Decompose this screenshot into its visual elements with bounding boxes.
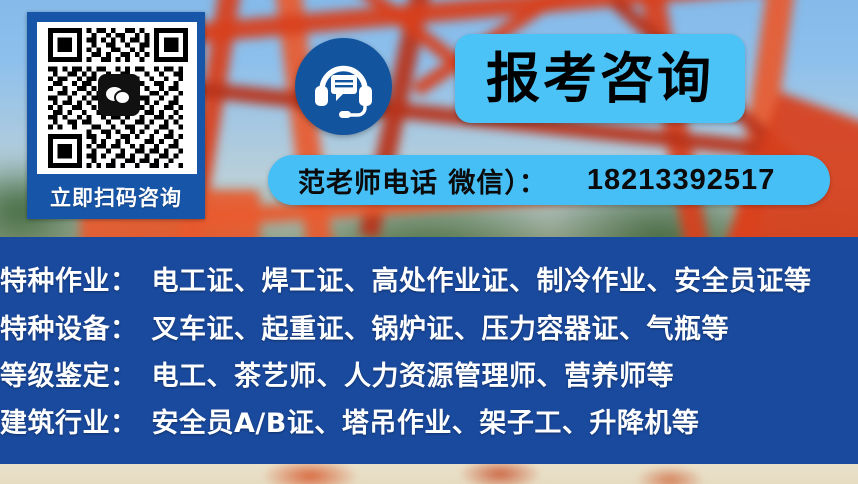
- category-row-construction: 建筑行业： 安全员A/B证、塔吊作业、架子工、升降机等: [0, 397, 858, 443]
- category-row-special-equipment: 特种设备： 叉车证、起重证、锅炉证、压力容器证、气瓶等: [0, 303, 858, 349]
- category-label: 等级鉴定：: [0, 354, 138, 393]
- category-row-special-operations: 特种作业： 电工证、焊工证、高处作业证、制冷作业、安全员证等: [0, 255, 858, 301]
- category-items: 电工证、焊工证、高处作业证、制冷作业、安全员证等: [152, 259, 812, 298]
- qr-card-caption: 立即扫码咨询: [30, 182, 202, 212]
- consultation-title-pill[interactable]: 报考咨询: [455, 34, 745, 123]
- category-row-skill-grading: 等级鉴定： 电工、茶艺师、人力资源管理师、营养师等: [0, 350, 858, 396]
- headset-support-glyph: [295, 38, 392, 135]
- wechat-icon: [98, 74, 140, 116]
- qr-code-card[interactable]: 立即扫码咨询: [27, 12, 205, 219]
- contact-phone-number[interactable]: 18213392517: [587, 164, 775, 197]
- category-items: 电工、茶艺师、人力资源管理师、营养师等: [152, 354, 675, 393]
- category-label: 特种作业：: [0, 259, 138, 298]
- qr-code-image[interactable]: [37, 22, 197, 174]
- advertisement-banner: 立即扫码咨询 报考咨询 范老师电话 微信）： 18213392517 特种作业：…: [0, 0, 858, 484]
- bottom-photo-strip: [0, 464, 858, 484]
- category-items: 安全员A/B证、塔吊作业、架子工、升降机等: [152, 401, 700, 440]
- category-label: 建筑行业：: [0, 401, 138, 440]
- contact-label: 范老师电话 微信）：: [298, 161, 547, 200]
- category-items: 叉车证、起重证、锅炉证、压力容器证、气瓶等: [152, 307, 730, 346]
- certificate-categories-panel: 特种作业： 电工证、焊工证、高处作业证、制冷作业、安全员证等 特种设备： 叉车证…: [0, 237, 858, 464]
- category-label: 特种设备：: [0, 307, 138, 346]
- contact-pill[interactable]: 范老师电话 微信）： 18213392517: [268, 155, 830, 205]
- headset-support-icon[interactable]: [295, 38, 392, 135]
- page-title: 报考咨询: [486, 52, 714, 106]
